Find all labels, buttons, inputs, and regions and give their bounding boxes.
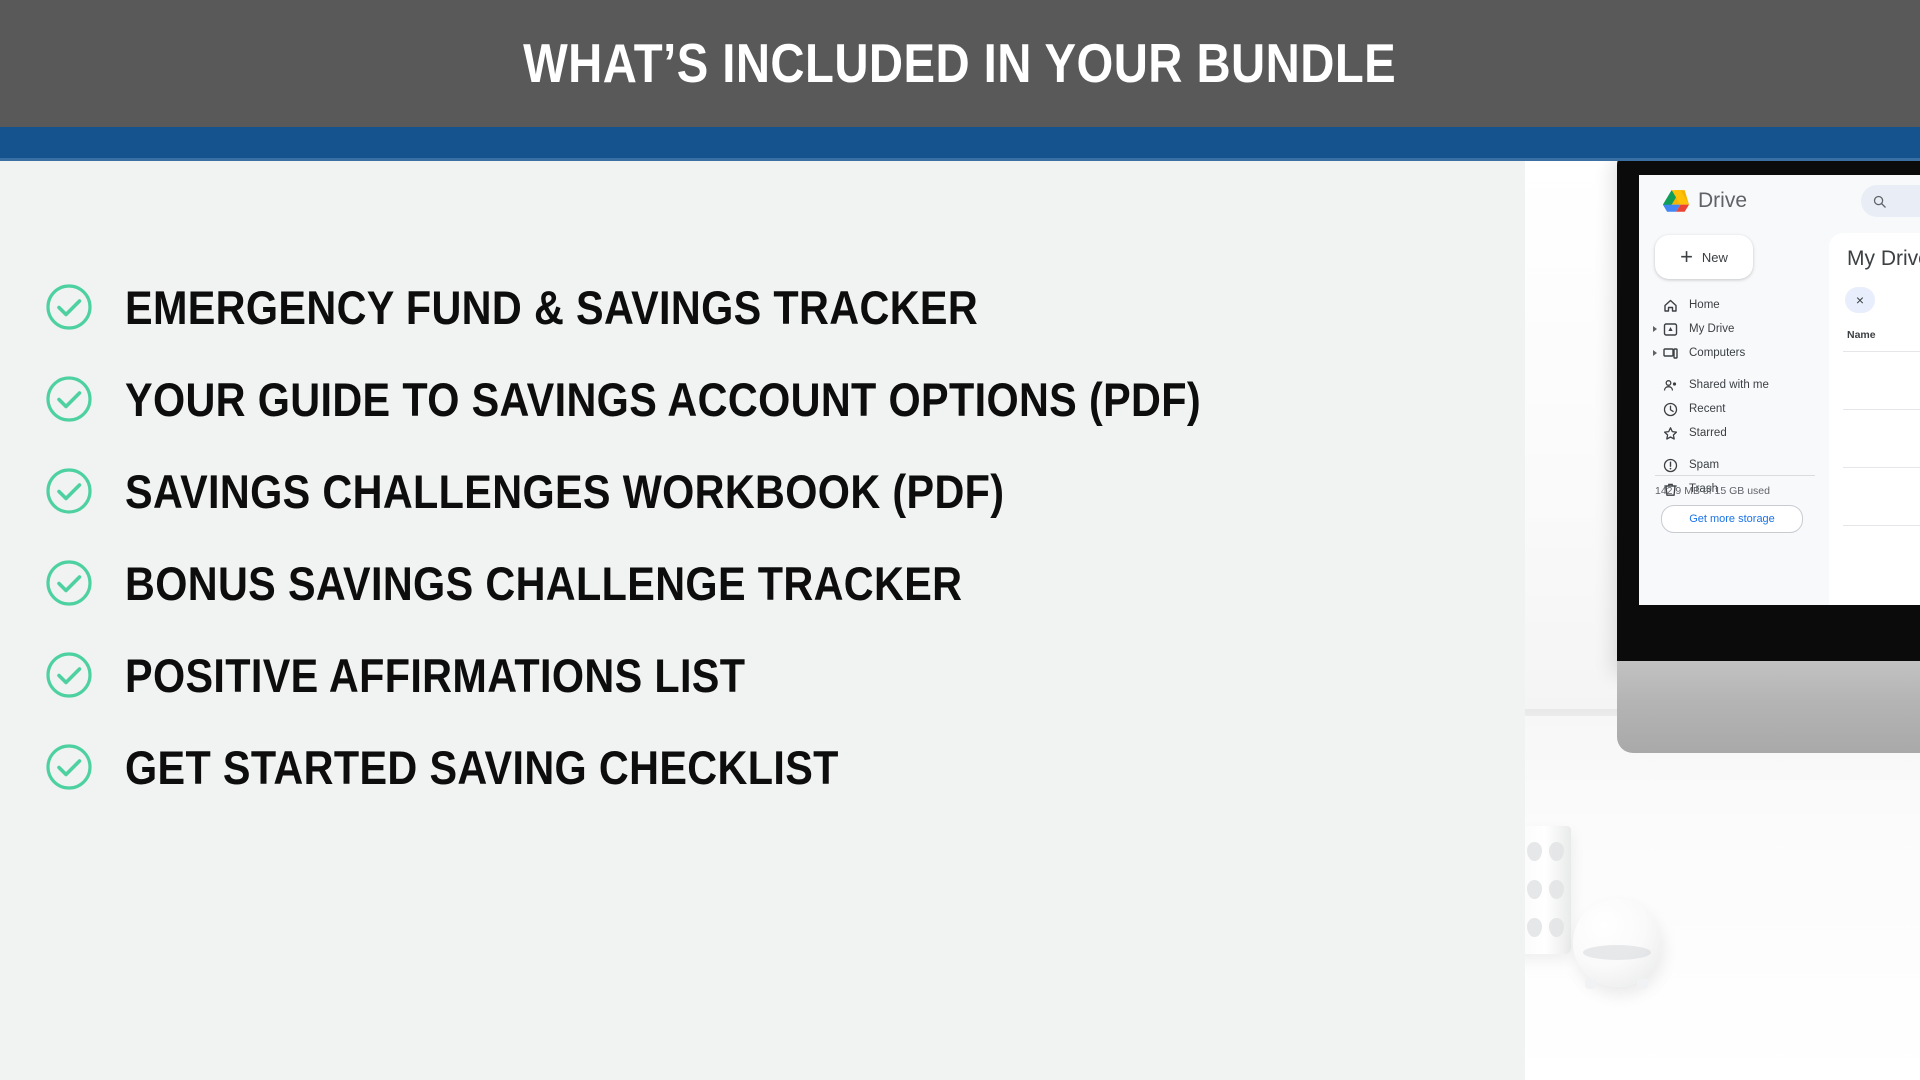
storage-usage-text: 142.9 MB of 15 GB used (1655, 485, 1770, 497)
table-row-divider (1843, 467, 1920, 468)
table-row-divider (1843, 351, 1920, 352)
sphere-highlight (1583, 945, 1651, 960)
check-circle-icon (45, 559, 93, 607)
computers-icon (1663, 346, 1678, 361)
checklist-item: GET STARTED SAVING CHECKLIST (45, 721, 1445, 813)
accent-bar (0, 127, 1920, 158)
storage-divider (1655, 475, 1815, 476)
sidebar-item-starred[interactable]: Starred (1651, 423, 1819, 443)
sidebar-item-label: Spam (1689, 459, 1719, 471)
imac-monitor: Drive + New HomeMy DriveComputersShared … (1617, 161, 1920, 671)
slide-canvas: WHAT’S INCLUDED IN YOUR BUNDLE EMERGENCY… (0, 0, 1920, 1080)
checklist-item-label: GET STARTED SAVING CHECKLIST (125, 744, 839, 791)
get-more-storage-label: Get more storage (1689, 513, 1775, 525)
sidebar-item-computers[interactable]: Computers (1651, 343, 1819, 363)
drive-main-panel: My Drive × Name (1829, 233, 1920, 605)
sidebar-item-spam[interactable]: Spam (1651, 455, 1819, 475)
spam-icon (1663, 458, 1678, 473)
desk-surface (1525, 716, 1920, 1080)
search-icon (1872, 194, 1887, 209)
sidebar-item-label: Recent (1689, 403, 1725, 415)
check-circle-icon (45, 283, 93, 331)
clock-icon (1663, 402, 1678, 417)
header-bar: WHAT’S INCLUDED IN YOUR BUNDLE (0, 0, 1920, 127)
sidebar-item-my-drive[interactable]: My Drive (1651, 319, 1819, 339)
checklist-item-label: BONUS SAVINGS CHALLENGE TRACKER (125, 560, 962, 607)
table-row-divider (1843, 409, 1920, 410)
check-circle-icon (45, 375, 93, 423)
checklist-item: SAVINGS CHALLENGES WORKBOOK (PDF) (45, 445, 1445, 537)
home-icon (1663, 298, 1678, 313)
google-drive-app: Drive + New HomeMy DriveComputersShared … (1639, 175, 1920, 605)
check-circle-icon (45, 467, 93, 515)
sidebar-item-label: Starred (1689, 427, 1727, 439)
my-drive-icon (1663, 322, 1678, 337)
google-drive-logo-icon (1663, 190, 1689, 213)
sidebar-item-recent[interactable]: Recent (1651, 399, 1819, 419)
checklist-item-label: EMERGENCY FUND & SAVINGS TRACKER (125, 284, 978, 331)
checklist-item-label: POSITIVE AFFIRMATIONS LIST (125, 652, 745, 699)
check-circle-icon (45, 743, 93, 791)
table-row-divider (1843, 525, 1920, 526)
page-title: WHAT’S INCLUDED IN YOUR BUNDLE (523, 36, 1396, 91)
star-icon (1663, 426, 1678, 441)
check-circle-icon (45, 651, 93, 699)
my-drive-title: My Drive (1847, 247, 1920, 271)
plus-icon: + (1680, 246, 1693, 268)
sidebar-item-label: Shared with me (1689, 379, 1769, 391)
sidebar-item-shared-with-me[interactable]: Shared with me (1651, 375, 1819, 395)
sidebar-item-label: My Drive (1689, 323, 1734, 335)
checklist-item-label: YOUR GUIDE TO SAVINGS ACCOUNT OPTIONS (P… (125, 376, 1201, 423)
chevron-right-icon[interactable] (1653, 326, 1657, 332)
chevron-right-icon[interactable] (1653, 350, 1657, 356)
get-more-storage-button[interactable]: Get more storage (1661, 505, 1803, 533)
drive-search-box[interactable] (1861, 185, 1920, 217)
decorative-sphere (1573, 899, 1661, 987)
column-header-name: Name (1847, 329, 1876, 341)
monitor-screen: Drive + New HomeMy DriveComputersShared … (1639, 175, 1920, 605)
checklist-item: EMERGENCY FUND & SAVINGS TRACKER (45, 261, 1445, 353)
imac-chin (1617, 661, 1920, 753)
bundle-checklist: EMERGENCY FUND & SAVINGS TRACKERYOUR GUI… (45, 261, 1445, 813)
drive-wordmark: Drive (1698, 189, 1747, 213)
sphere-foot (1585, 979, 1596, 989)
content-panel: EMERGENCY FUND & SAVINGS TRACKERYOUR GUI… (0, 161, 1525, 1080)
product-photo: Drive + New HomeMy DriveComputersShared … (1525, 161, 1920, 1080)
checklist-item: POSITIVE AFFIRMATIONS LIST (45, 629, 1445, 721)
sidebar-item-label: Computers (1689, 347, 1745, 359)
sidebar-item-label: Home (1689, 299, 1720, 311)
checklist-item: BONUS SAVINGS CHALLENGE TRACKER (45, 537, 1445, 629)
checklist-item-label: SAVINGS CHALLENGES WORKBOOK (PDF) (125, 468, 1004, 515)
new-button[interactable]: + New (1655, 235, 1753, 279)
sidebar-item-home[interactable]: Home (1651, 295, 1819, 315)
new-button-label: New (1702, 250, 1728, 265)
people-icon (1663, 378, 1678, 393)
clear-filter-chip[interactable]: × (1845, 287, 1875, 313)
decorative-cylinder (1525, 826, 1571, 954)
checklist-item: YOUR GUIDE TO SAVINGS ACCOUNT OPTIONS (P… (45, 353, 1445, 445)
sphere-foot (1637, 979, 1648, 989)
